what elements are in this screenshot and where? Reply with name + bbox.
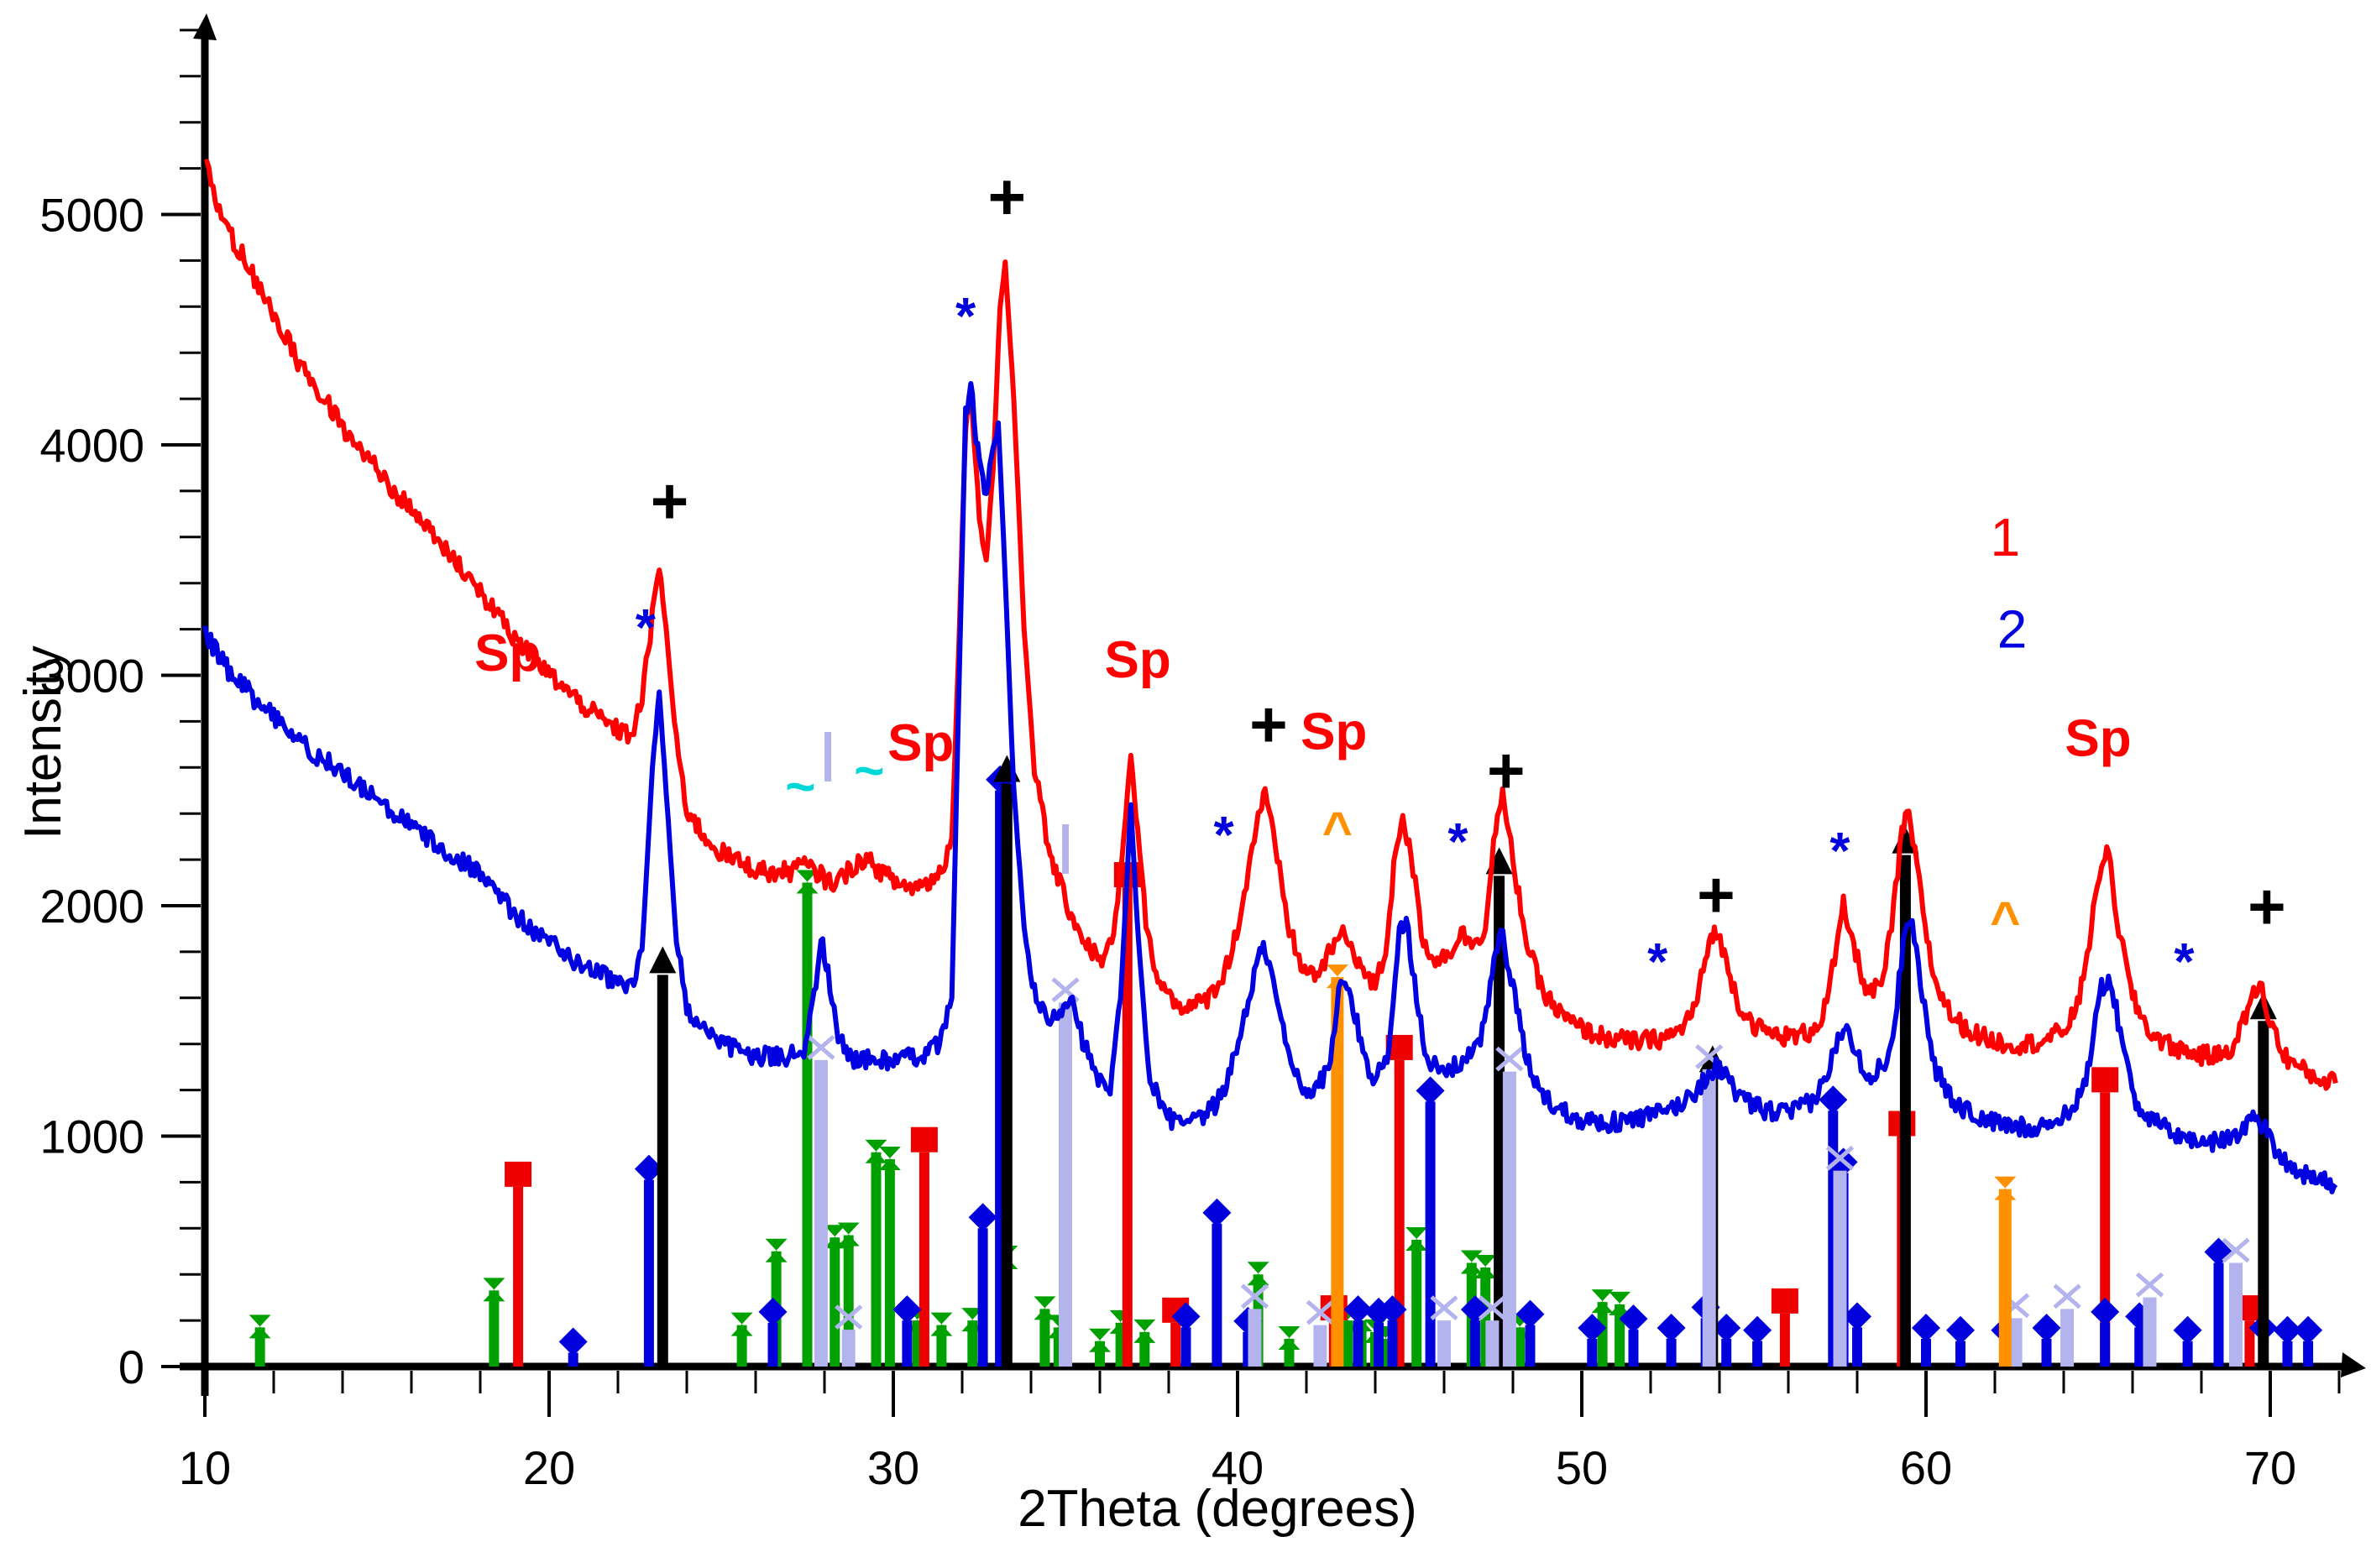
stick-phase-red-square-marker <box>911 1127 938 1152</box>
stick-phase-green-bowtie-marker <box>249 1315 271 1338</box>
x-tick-label: 40 <box>1212 1441 1264 1494</box>
stick-phase-lavender-x-marker <box>2054 1285 2080 1307</box>
y-tick-label: 1000 <box>39 1111 144 1163</box>
stick-phase-lavender-x-marker <box>2138 1274 2163 1296</box>
stick-phase-green-bowtie-marker <box>930 1313 952 1336</box>
stick-phase-blue-diamond-marker <box>759 1298 788 1326</box>
y-tick-label: 2000 <box>39 880 144 933</box>
stick-phase-green-bowtie-marker <box>838 1223 860 1247</box>
x-tick-labels: 10203040506070 <box>179 1441 2296 1494</box>
stick-phase-blue-diamond-marker <box>1743 1316 1772 1345</box>
y-tick-label: 3000 <box>39 650 144 703</box>
stick-phase-blue-diamond-marker <box>559 1328 588 1356</box>
marker-plus-4: + <box>1487 733 1526 807</box>
legend-layer: 12 <box>1991 507 2028 660</box>
x-axis-arrow <box>2341 1352 2366 1377</box>
stick-phase-blue-diamond-marker <box>1912 1314 1940 1342</box>
label-sp-2: Sp <box>887 714 954 772</box>
marker-plus-3: + <box>1249 687 1288 761</box>
y-tick-label: 4000 <box>39 419 144 472</box>
marker-caret-2: ^ <box>1990 891 2020 949</box>
chart-root: Intensity 2Theta (degrees) 1020304050607… <box>0 0 2371 1568</box>
x-tick-label: 70 <box>2244 1441 2296 1494</box>
marker-plus-6: + <box>2248 869 2286 943</box>
stick-phase-blue-diamond-marker <box>2174 1316 2202 1345</box>
stick-phase-blue-diamond-marker <box>969 1203 997 1231</box>
stick-phase-red-square-marker <box>505 1162 531 1187</box>
stick-phase-blue-diamond-marker <box>2033 1314 2061 1342</box>
label-sp-3: Sp <box>1104 631 1170 689</box>
series-line-2 <box>205 384 2336 1192</box>
stick-phase-green-bowtie-marker <box>1474 1255 1496 1278</box>
stick-phase-red-square-marker <box>1772 1288 1798 1314</box>
marker-tilde-2: ~ <box>854 742 884 800</box>
stick-phase-blue-diamond-marker <box>892 1295 921 1324</box>
marker-star-3: * <box>1214 807 1235 865</box>
x-tick-label: 10 <box>179 1441 231 1494</box>
x-tick-label: 50 <box>1556 1441 1608 1494</box>
stick-phase-orange-bowtie-marker <box>1994 1177 2016 1200</box>
marker-plus-1: + <box>651 463 689 537</box>
stick-phase-blue-diamond-marker <box>1819 1085 1847 1114</box>
legend-label-1: 1 <box>1991 507 2021 567</box>
marker-star-4: * <box>1447 813 1468 871</box>
legend-label-2: 2 <box>1997 599 2028 660</box>
stick-phase-blue-diamond-marker <box>1202 1199 1231 1227</box>
label-sp-1: Sp <box>474 625 541 682</box>
marker-plus-5: + <box>1697 858 1735 932</box>
label-sp-4: Sp <box>1301 703 1367 760</box>
stick-phase-green-bowtie-marker <box>1279 1326 1301 1350</box>
xrd-diffraction-chart: Intensity 2Theta (degrees) 1020304050607… <box>0 0 2371 1568</box>
stick-phase-red-square-marker <box>2091 1067 2118 1092</box>
stick-phase-green-bowtie-marker <box>1089 1329 1111 1352</box>
marker-star-1: * <box>636 599 657 657</box>
x-tick-label: 60 <box>1900 1441 1952 1494</box>
marker-star-7: * <box>2174 933 2195 991</box>
label-sp-5: Sp <box>2065 710 2131 768</box>
marker-star-5: * <box>1647 933 1668 991</box>
stick-phase-green-bowtie-marker <box>1133 1320 1155 1343</box>
marker-star-6: * <box>1829 823 1850 881</box>
marker-bar-2: | <box>1058 816 1072 875</box>
stick-phase-blue-diamond-marker <box>2294 1316 2322 1345</box>
stick-phase-green-bowtie-marker <box>483 1278 505 1301</box>
stick-patterns-layer <box>249 755 2323 1367</box>
marker-tilde-1: ~ <box>785 758 815 816</box>
stick-phase-blue-diamond-marker <box>1657 1314 1686 1342</box>
stick-phase-green-bowtie-marker <box>766 1239 788 1262</box>
stick-phase-blue-diamond-marker <box>1416 1076 1445 1105</box>
marker-plus-2: + <box>988 159 1027 233</box>
stick-phase-green-bowtie-marker <box>1461 1250 1483 1273</box>
x-tick-label: 30 <box>867 1441 919 1494</box>
stick-phase-green-bowtie-marker <box>1248 1262 1269 1285</box>
marker-star-2: * <box>955 288 976 346</box>
marker-bar-1: | <box>820 724 835 782</box>
y-tick-label: 0 <box>118 1341 144 1393</box>
stick-phase-blue-diamond-marker <box>2091 1298 2119 1326</box>
marker-caret-1: ^ <box>1322 802 1353 860</box>
y-tick-label: 5000 <box>39 189 144 242</box>
y-axis-arrow <box>193 13 217 40</box>
stick-phase-black-arrow-marker <box>649 946 676 973</box>
stick-phase-green-bowtie-marker <box>731 1313 753 1336</box>
stick-phase-green-bowtie-marker <box>1405 1227 1427 1251</box>
stick-phase-blue-diamond-marker <box>1946 1316 1975 1345</box>
x-tick-label: 20 <box>523 1441 575 1494</box>
